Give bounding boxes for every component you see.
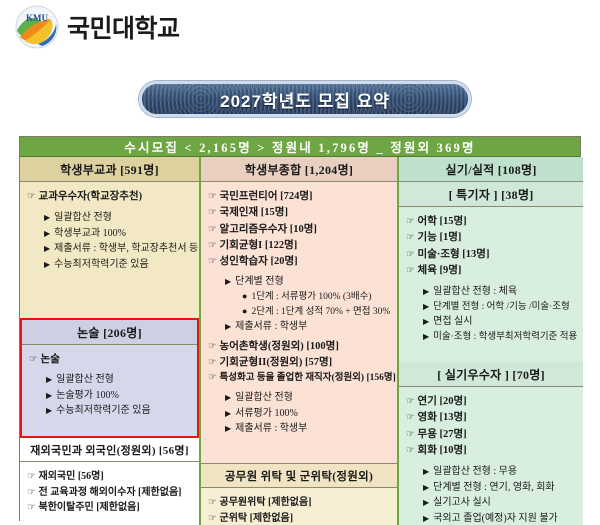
list-item: ▶제출서류 : 학생부: [208, 319, 391, 335]
list-item: ▶수능최저학력기준 있음: [27, 257, 193, 273]
list-item: ▶일괄합산 전형: [29, 372, 191, 388]
list-item: ☞군위탁 [제한없음]: [208, 511, 391, 525]
list-item: ☞특성화고 등을 졸업한 재직자(정원외) [156명]: [208, 371, 391, 386]
hand-icon: ☞: [208, 498, 217, 508]
list-item: ☞성인학습자 [20명]: [208, 254, 391, 270]
list-item: ▶제출서류 : 학생부, 학교장추천서 등: [27, 241, 193, 257]
brand-name: 국민대학교: [67, 9, 180, 45]
list-item: ▶단계별 전형: [208, 274, 391, 290]
list-item: ☞연기 [20명]: [406, 394, 577, 410]
triangle-icon: ▶: [225, 424, 231, 433]
list-item: ☞무용 [27명]: [406, 427, 577, 443]
column-hakseangbu-jonghap: 학생부종합 [1,204명] ☞국민프런티어 [724명] ☞국제인재 [15명…: [201, 157, 399, 525]
list-item: ▶국외고 졸업(예정)자 지원 불가: [406, 511, 577, 525]
list-item: ☞교과우수자(학교장추천): [27, 189, 193, 205]
triangle-icon: ▶: [423, 302, 429, 311]
list-item: ☞농어촌학생(정원외) [100명]: [208, 339, 391, 355]
list-item: ▶논술평가 100%: [29, 388, 191, 404]
list-item: ●2단계 : 1단계 성적 70% + 면접 30%: [208, 305, 391, 320]
list-item: ☞국제인재 [15명]: [208, 205, 391, 221]
triangle-icon: ▶: [423, 483, 429, 492]
triangle-icon: ▶: [225, 393, 231, 402]
triangle-icon: ▶: [44, 213, 50, 222]
triangle-icon: ▶: [423, 514, 429, 523]
section-overseas-foreign: 재외국민과 외국인(정원외) [56명] ☞재외국민 [56명] ☞전 교육과정…: [20, 438, 199, 525]
triangle-icon: ▶: [225, 277, 231, 286]
section-header: 논술 [206명]: [22, 320, 197, 345]
section-header: 학생부교과 [591명]: [20, 157, 199, 182]
triangle-icon: ▶: [225, 409, 231, 418]
list-item: ▶단계별 전형 : 연기, 영화, 회화: [406, 480, 577, 496]
triangle-icon: ▶: [225, 322, 231, 331]
list-item: ☞기회균형I [122명]: [208, 238, 391, 254]
section-subheader: [ 특기자 ] [38명]: [399, 182, 583, 207]
list-item: ☞기회균형II(정원외) [57명]: [208, 355, 391, 371]
hand-icon: ☞: [27, 472, 36, 482]
section-hakseangbu-gyogwa: 학생부교과 [591명] ☞교과우수자(학교장추천) ▶일괄합산 전형 ▶학생부…: [20, 157, 199, 318]
section-body: ☞국민프런티어 [724명] ☞국제인재 [15명] ☞알고리즘우수자 [10명…: [201, 182, 397, 463]
list-item: ☞재외국민 [56명]: [27, 469, 193, 485]
list-item: ☞체육 [9명]: [406, 263, 577, 279]
hand-icon: ☞: [208, 342, 217, 352]
section-body: ☞교과우수자(학교장추천) ▶일괄합산 전형 ▶학생부교과 100% ▶제출서류…: [20, 182, 199, 318]
section-hakseangbu-jonghap: 학생부종합 [1,204명] ☞국민프런티어 [724명] ☞국제인재 [15명…: [201, 157, 397, 463]
section-body: ☞재외국민 [56명] ☞전 교육과정 해외이수자 [제한없음] ☞북한이탈주민…: [20, 462, 199, 522]
list-item: ▶미술·조형 : 학생부최저학력기준 적용: [406, 330, 577, 345]
list-item: ▶일괄합산 전형 : 체육: [406, 284, 577, 300]
triangle-icon: ▶: [44, 229, 50, 238]
hand-icon: ☞: [208, 358, 217, 368]
triangle-icon: ▶: [46, 406, 52, 415]
brand-header: KMU 국민대학교: [14, 4, 180, 50]
section-body: ☞어학 [15명] ☞기능 [1명] ☞미술·조형 [13명] ☞체육 [9명]: [399, 207, 583, 362]
list-item: ▶일괄합산 전형: [27, 210, 193, 226]
triangle-icon: ▶: [423, 467, 429, 476]
list-item: ☞기능 [1명]: [406, 230, 577, 246]
list-item: ☞전 교육과정 해외이수자 [제한없음]: [27, 485, 193, 501]
column-hakseangbu-gyogwa: 학생부교과 [591명] ☞교과우수자(학교장추천) ▶일괄합산 전형 ▶학생부…: [20, 157, 201, 525]
svg-text:KMU: KMU: [26, 13, 48, 23]
section-body: ☞연기 [20명] ☞영화 [13명] ☞무용 [27명] ☞회화 [10명]: [399, 387, 583, 525]
section-gongmuwon-wital: 공무원 위탁 및 군위탁(정원외) ☞공무원위탁 [제한없음] ☞군위탁 [제한…: [201, 463, 397, 525]
admissions-summary-table: 수시모집 < 2,165명 > 정원내 1,796명 _ 정원외 369명 학생…: [19, 136, 581, 521]
list-item: ▶단계별 전형 : 어학 /기능 /미술·조형: [406, 300, 577, 315]
triangle-icon: ▶: [44, 244, 50, 253]
hand-icon: ☞: [208, 373, 217, 383]
hand-icon: ☞: [27, 488, 36, 498]
hand-icon: ☞: [406, 430, 415, 440]
hand-icon: ☞: [208, 192, 217, 202]
list-item: ▶실기고사 실시: [406, 495, 577, 511]
bullet-icon: ●: [242, 291, 247, 301]
column-silgi-siljeok: 실기/실적 [108명] [ 특기자 ] [38명] ☞어학 [15명] ☞기능…: [399, 157, 583, 525]
page-root: KMU 국민대학교 2027학년도 모집 요약 수시모집 < 2,165명 > …: [0, 0, 600, 525]
triangle-icon: ▶: [423, 498, 429, 507]
section-header: [ 실기우수자 ] [70명]: [399, 362, 583, 387]
list-item: ▶서류평가 100%: [208, 406, 391, 422]
kmu-logo: KMU: [14, 4, 60, 50]
hand-icon: ☞: [406, 250, 415, 260]
triangle-icon: ▶: [423, 287, 429, 296]
triangle-icon: ▶: [44, 260, 50, 269]
hand-icon: ☞: [29, 355, 38, 365]
columns-container: 학생부교과 [591명] ☞교과우수자(학교장추천) ▶일괄합산 전형 ▶학생부…: [20, 157, 580, 525]
list-item: ☞영화 [13명]: [406, 410, 577, 426]
list-item: ☞북한이탈주민 [제한없음]: [27, 500, 193, 516]
hand-icon: ☞: [27, 192, 36, 202]
list-item: ☞논술: [29, 352, 191, 368]
hand-icon: ☞: [208, 208, 217, 218]
hand-icon: ☞: [406, 446, 415, 456]
section-header: 학생부종합 [1,204명]: [201, 157, 397, 182]
list-item: ▶학생부교과 100%: [27, 226, 193, 242]
triangle-icon: ▶: [423, 332, 429, 341]
list-item: ☞국민프런티어 [724명]: [208, 189, 391, 205]
section-body: ☞논술 ▶일괄합산 전형 ▶논술평가 100% ▶수능최저학력기준 있음: [22, 345, 197, 436]
hand-icon: ☞: [27, 503, 36, 513]
hand-icon: ☞: [208, 241, 217, 251]
section-header: 실기/실적 [108명]: [399, 157, 583, 182]
summary-bar: 수시모집 < 2,165명 > 정원내 1,796명 _ 정원외 369명: [20, 137, 580, 157]
section-nonsul-highlighted: 논술 [206명] ☞논술 ▶일괄합산 전형 ▶논술평가 100% ▶수능최저학…: [20, 318, 199, 438]
list-item: ●1단계 : 서류평가 100% (3배수): [208, 290, 391, 305]
section-header: 공무원 위탁 및 군위탁(정원외): [201, 464, 397, 488]
list-item: ▶제출서류 : 학생부: [208, 421, 391, 437]
list-item: ☞공무원위탁 [제한없음]: [208, 495, 391, 511]
title-banner: 2027학년도 모집 요약: [139, 81, 471, 117]
triangle-icon: ▶: [46, 375, 52, 384]
hand-icon: ☞: [406, 266, 415, 276]
bullet-icon: ●: [242, 306, 247, 316]
list-item: ☞회화 [10명]: [406, 443, 577, 459]
list-item: ☞미술·조형 [13명]: [406, 247, 577, 263]
list-item: ▶일괄합산 전형 : 무용: [406, 464, 577, 480]
list-item: ▶수능최저학력기준 있음: [29, 403, 191, 419]
list-item: ☞어학 [15명]: [406, 214, 577, 230]
list-item: ▶일괄합산 전형: [208, 390, 391, 406]
hand-icon: ☞: [406, 217, 415, 227]
hand-icon: ☞: [208, 225, 217, 235]
hand-icon: ☞: [406, 233, 415, 243]
hand-icon: ☞: [406, 413, 415, 423]
list-item: ▶면접 실시: [406, 314, 577, 330]
hand-icon: ☞: [406, 397, 415, 407]
triangle-icon: ▶: [423, 317, 429, 326]
section-body: ☞공무원위탁 [제한없음] ☞군위탁 [제한없음]: [201, 488, 397, 525]
section-header: 재외국민과 외국인(정원외) [56명]: [20, 438, 199, 462]
hand-icon: ☞: [208, 257, 217, 267]
hand-icon: ☞: [208, 514, 217, 524]
list-item: ☞알고리즘우수자 [10명]: [208, 222, 391, 238]
page-title: 2027학년도 모집 요약: [220, 87, 390, 112]
section-silgi-usuja: [ 실기우수자 ] [70명] ☞연기 [20명] ☞영화 [13명] ☞무용 …: [399, 362, 583, 525]
triangle-icon: ▶: [46, 391, 52, 400]
section-silgi-siljeok: 실기/실적 [108명] [ 특기자 ] [38명] ☞어학 [15명] ☞기능…: [399, 157, 583, 362]
